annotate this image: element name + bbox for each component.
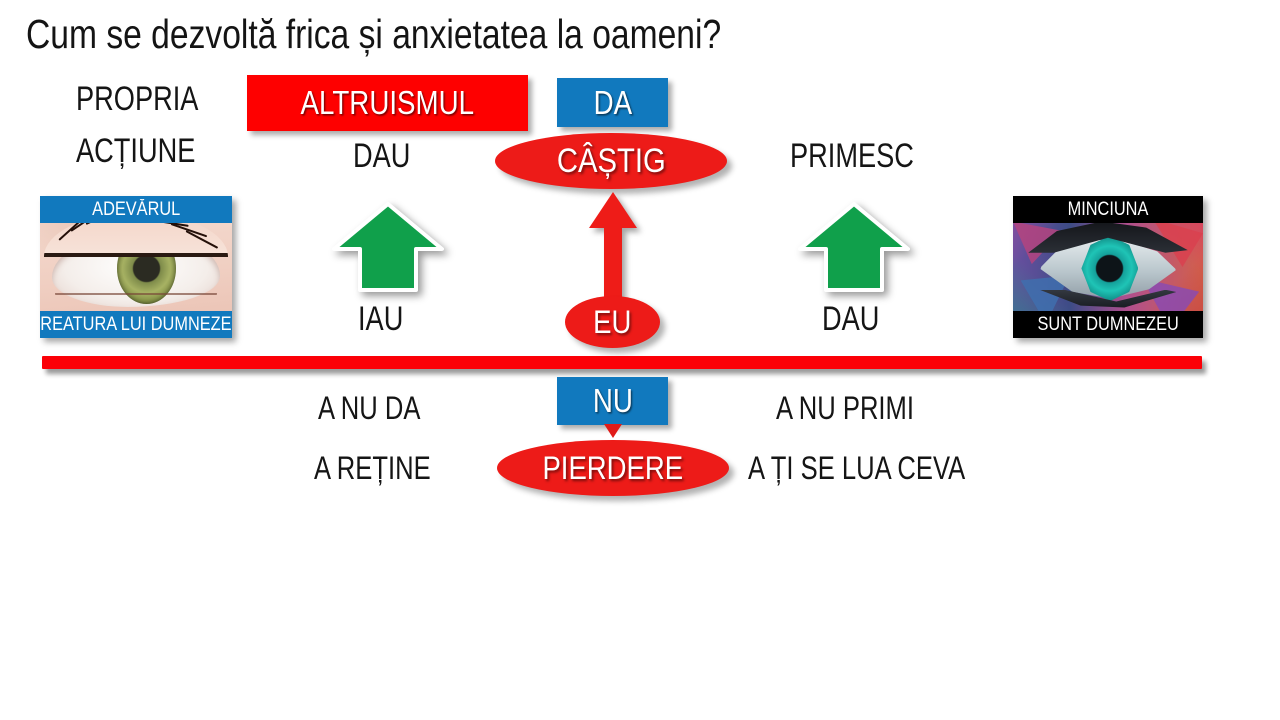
pierdere-label: PIERDERE — [543, 450, 684, 487]
label-a-nu-primi: A NU PRIMI — [776, 390, 914, 427]
card-minciuna-top-band: MINCIUNA — [1013, 196, 1203, 223]
card-adevarul-top-label: ADEVĂRUL — [92, 199, 180, 221]
green-up-arrow-right — [796, 200, 912, 295]
red-up-arrow-center — [585, 190, 641, 310]
castig-label: CÂȘTIG — [557, 142, 666, 181]
card-adevarul-bottom-band: CREATURA LUI DUMNEZEU — [40, 311, 232, 338]
label-a-retine: A REȚINE — [314, 450, 431, 487]
card-adevarul-bottom-label: CREATURA LUI DUMNEZEU — [40, 314, 232, 336]
card-adevarul[interactable]: ADEVĂRUL CREATURA LUI DUMNEZEU — [40, 196, 232, 338]
altruismul-label: ALTRUISMUL — [301, 84, 475, 122]
green-up-arrow-left — [330, 200, 446, 295]
page-title: Cum se dezvoltă frica și anxietatea la o… — [26, 11, 721, 58]
da-label: DA — [593, 84, 632, 122]
label-dau-bottom: DAU — [822, 300, 879, 339]
label-propria: PROPRIA — [76, 80, 198, 119]
da-box[interactable]: DA — [557, 78, 668, 127]
label-primesc: PRIMESC — [790, 137, 914, 176]
altruismul-box[interactable]: ALTRUISMUL — [247, 75, 528, 131]
eu-ellipse[interactable]: EU — [565, 296, 660, 348]
label-iau: IAU — [358, 300, 403, 339]
castig-ellipse[interactable]: CÂȘTIG — [495, 133, 727, 189]
slide-canvas: Cum se dezvoltă frica și anxietatea la o… — [0, 0, 1280, 720]
eu-label: EU — [593, 304, 631, 341]
label-a-nu-da: A NU DA — [318, 390, 420, 427]
nu-box[interactable]: NU — [557, 377, 668, 425]
card-adevarul-top-band: ADEVĂRUL — [40, 196, 232, 223]
label-actiune: ACȚIUNE — [76, 132, 195, 171]
card-minciuna[interactable]: MINCIUNA SUNT DUMNEZEU — [1013, 196, 1203, 338]
nu-label: NU — [592, 382, 632, 420]
card-minciuna-bottom-label: SUNT DUMNEZEU — [1037, 314, 1178, 336]
red-horizontal-divider — [42, 356, 1202, 369]
label-dau-top: DAU — [353, 137, 410, 176]
pierdere-ellipse[interactable]: PIERDERE — [497, 440, 729, 496]
label-a-ti-se-lua-ceva: A ȚI SE LUA CEVA — [748, 450, 965, 487]
card-minciuna-bottom-band: SUNT DUMNEZEU — [1013, 311, 1203, 338]
card-minciuna-top-label: MINCIUNA — [1068, 199, 1149, 221]
nu-pointer-triangle — [604, 424, 622, 438]
